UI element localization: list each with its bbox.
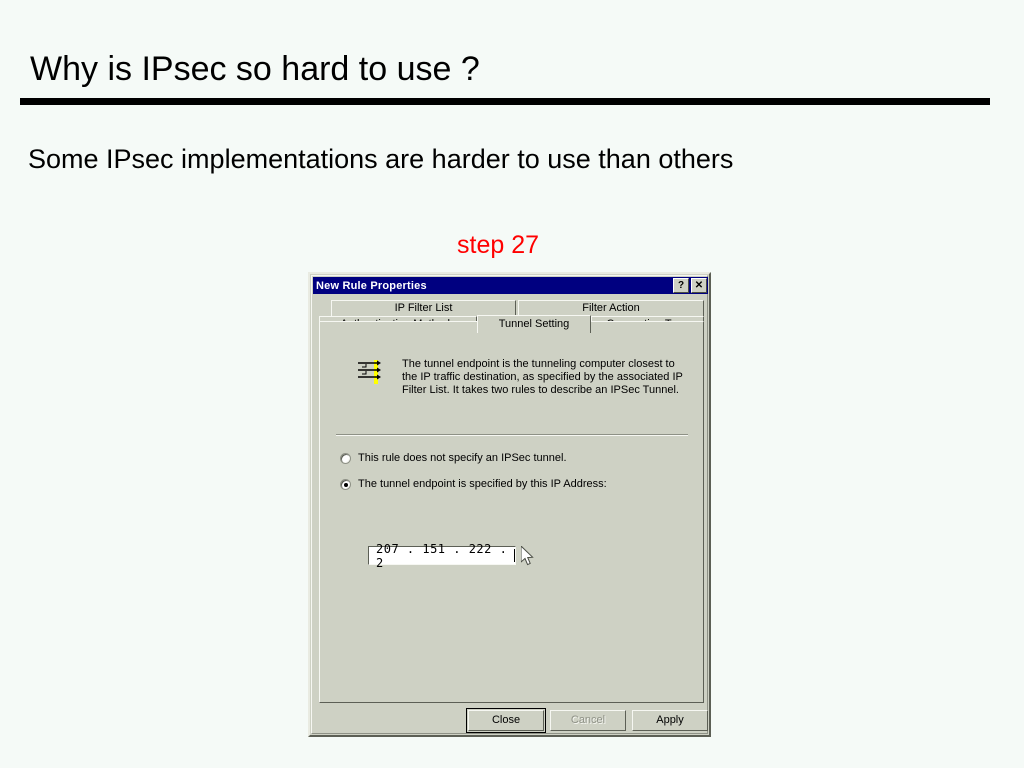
radio-button-unchecked-icon[interactable] <box>340 453 351 464</box>
radio-option-no-tunnel[interactable]: This rule does not specify an IPSec tunn… <box>340 452 567 464</box>
radio-option-tunnel-endpoint[interactable]: The tunnel endpoint is specified by this… <box>340 478 607 490</box>
text-caret <box>514 549 515 562</box>
title-divider <box>20 98 990 105</box>
radio-button-checked-icon[interactable] <box>340 479 351 490</box>
dialog-title: New Rule Properties <box>316 280 671 292</box>
ip-address-value: 207 . 151 . 222 . 2 <box>376 542 513 570</box>
cancel-button: Cancel <box>550 710 626 731</box>
close-button[interactable]: Close <box>468 710 544 731</box>
section-divider <box>336 434 688 436</box>
help-icon[interactable]: ? <box>673 278 689 293</box>
radio-option-tunnel-endpoint-label: The tunnel endpoint is specified by this… <box>358 478 607 490</box>
tunnel-setting-panel: The tunnel endpoint is the tunneling com… <box>319 321 704 703</box>
dialog-titlebar: New Rule Properties ? ✕ <box>313 277 708 294</box>
tunnel-routing-icon <box>356 358 382 386</box>
radio-option-no-tunnel-label: This rule does not specify an IPSec tunn… <box>358 452 567 464</box>
page-title: Why is IPsec so hard to use ? <box>30 50 480 89</box>
step-caption: step 27 <box>457 231 539 260</box>
close-icon[interactable]: ✕ <box>691 278 707 293</box>
tab-tunnel-setting[interactable]: Tunnel Setting <box>477 315 591 333</box>
ip-address-input[interactable]: 207 . 151 . 222 . 2 <box>368 546 516 565</box>
apply-button[interactable]: Apply <box>632 710 708 731</box>
tunnel-description: The tunnel endpoint is the tunneling com… <box>402 358 692 397</box>
tab-filter-action[interactable]: Filter Action <box>518 300 704 316</box>
tab-ip-filter-list[interactable]: IP Filter List <box>331 300 516 316</box>
slide-subtitle: Some IPsec implementations are harder to… <box>28 144 733 175</box>
new-rule-properties-dialog: New Rule Properties ? ✕ IP Filter List F… <box>308 272 711 737</box>
